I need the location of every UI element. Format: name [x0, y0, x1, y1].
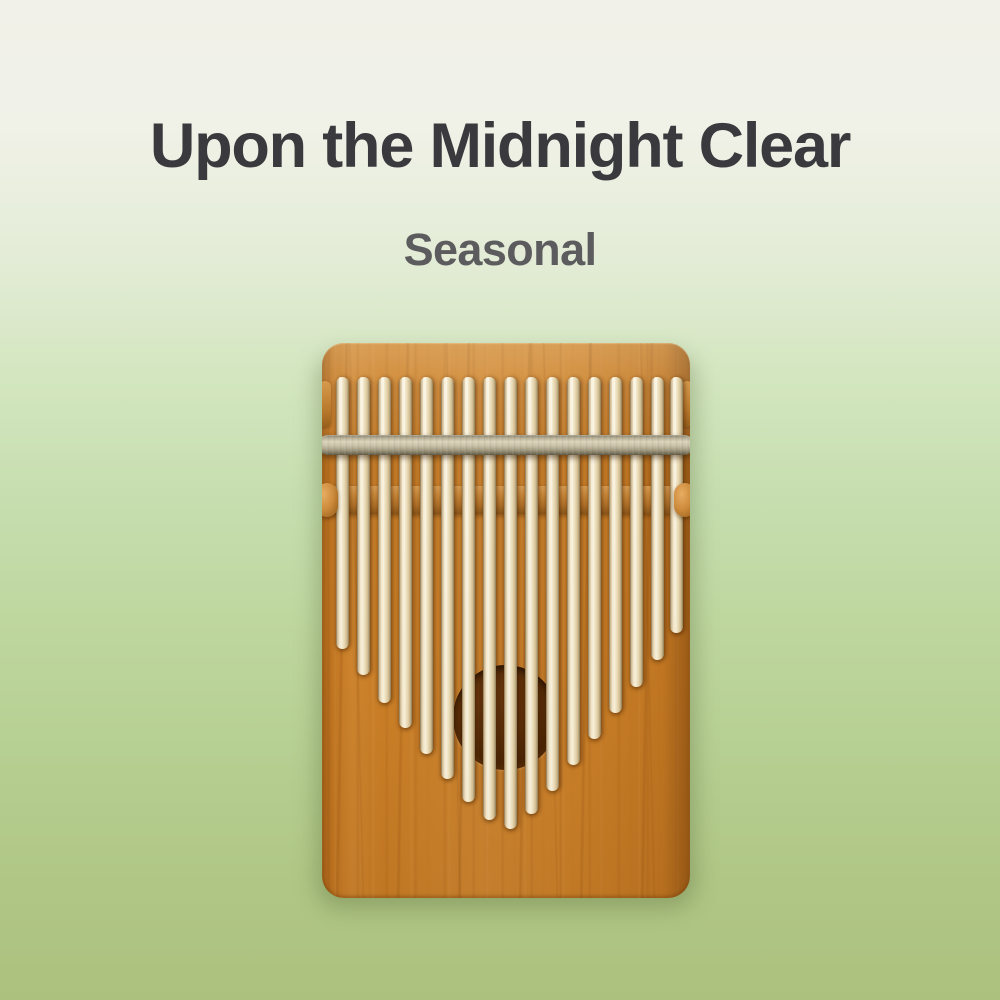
rail-peg-left — [322, 483, 338, 517]
kalimba-tine-3[interactable] — [378, 377, 391, 703]
kalimba-wood-body — [322, 343, 690, 898]
kalimba-instrument — [322, 343, 690, 898]
kalimba-tine-14[interactable] — [609, 377, 622, 713]
metal-bar-texture — [322, 435, 690, 455]
kalimba-tine-2[interactable] — [357, 377, 370, 675]
kalimba-tine-4[interactable] — [399, 377, 412, 728]
rail-peg-right — [674, 483, 690, 517]
metal-bridge-bar — [322, 435, 690, 455]
kalimba-tine-1[interactable] — [336, 377, 349, 649]
page-subtitle: Seasonal — [0, 222, 1000, 277]
poster-canvas: Upon the Midnight Clear Seasonal — [0, 0, 1000, 1000]
kalimba-tine-15[interactable] — [630, 377, 643, 687]
kalimba-tine-13[interactable] — [588, 377, 601, 739]
page-title: Upon the Midnight Clear — [0, 108, 1000, 184]
tines-layer — [322, 343, 690, 898]
kalimba-tine-16[interactable] — [651, 377, 664, 660]
kalimba-tine-5[interactable] — [420, 377, 433, 754]
